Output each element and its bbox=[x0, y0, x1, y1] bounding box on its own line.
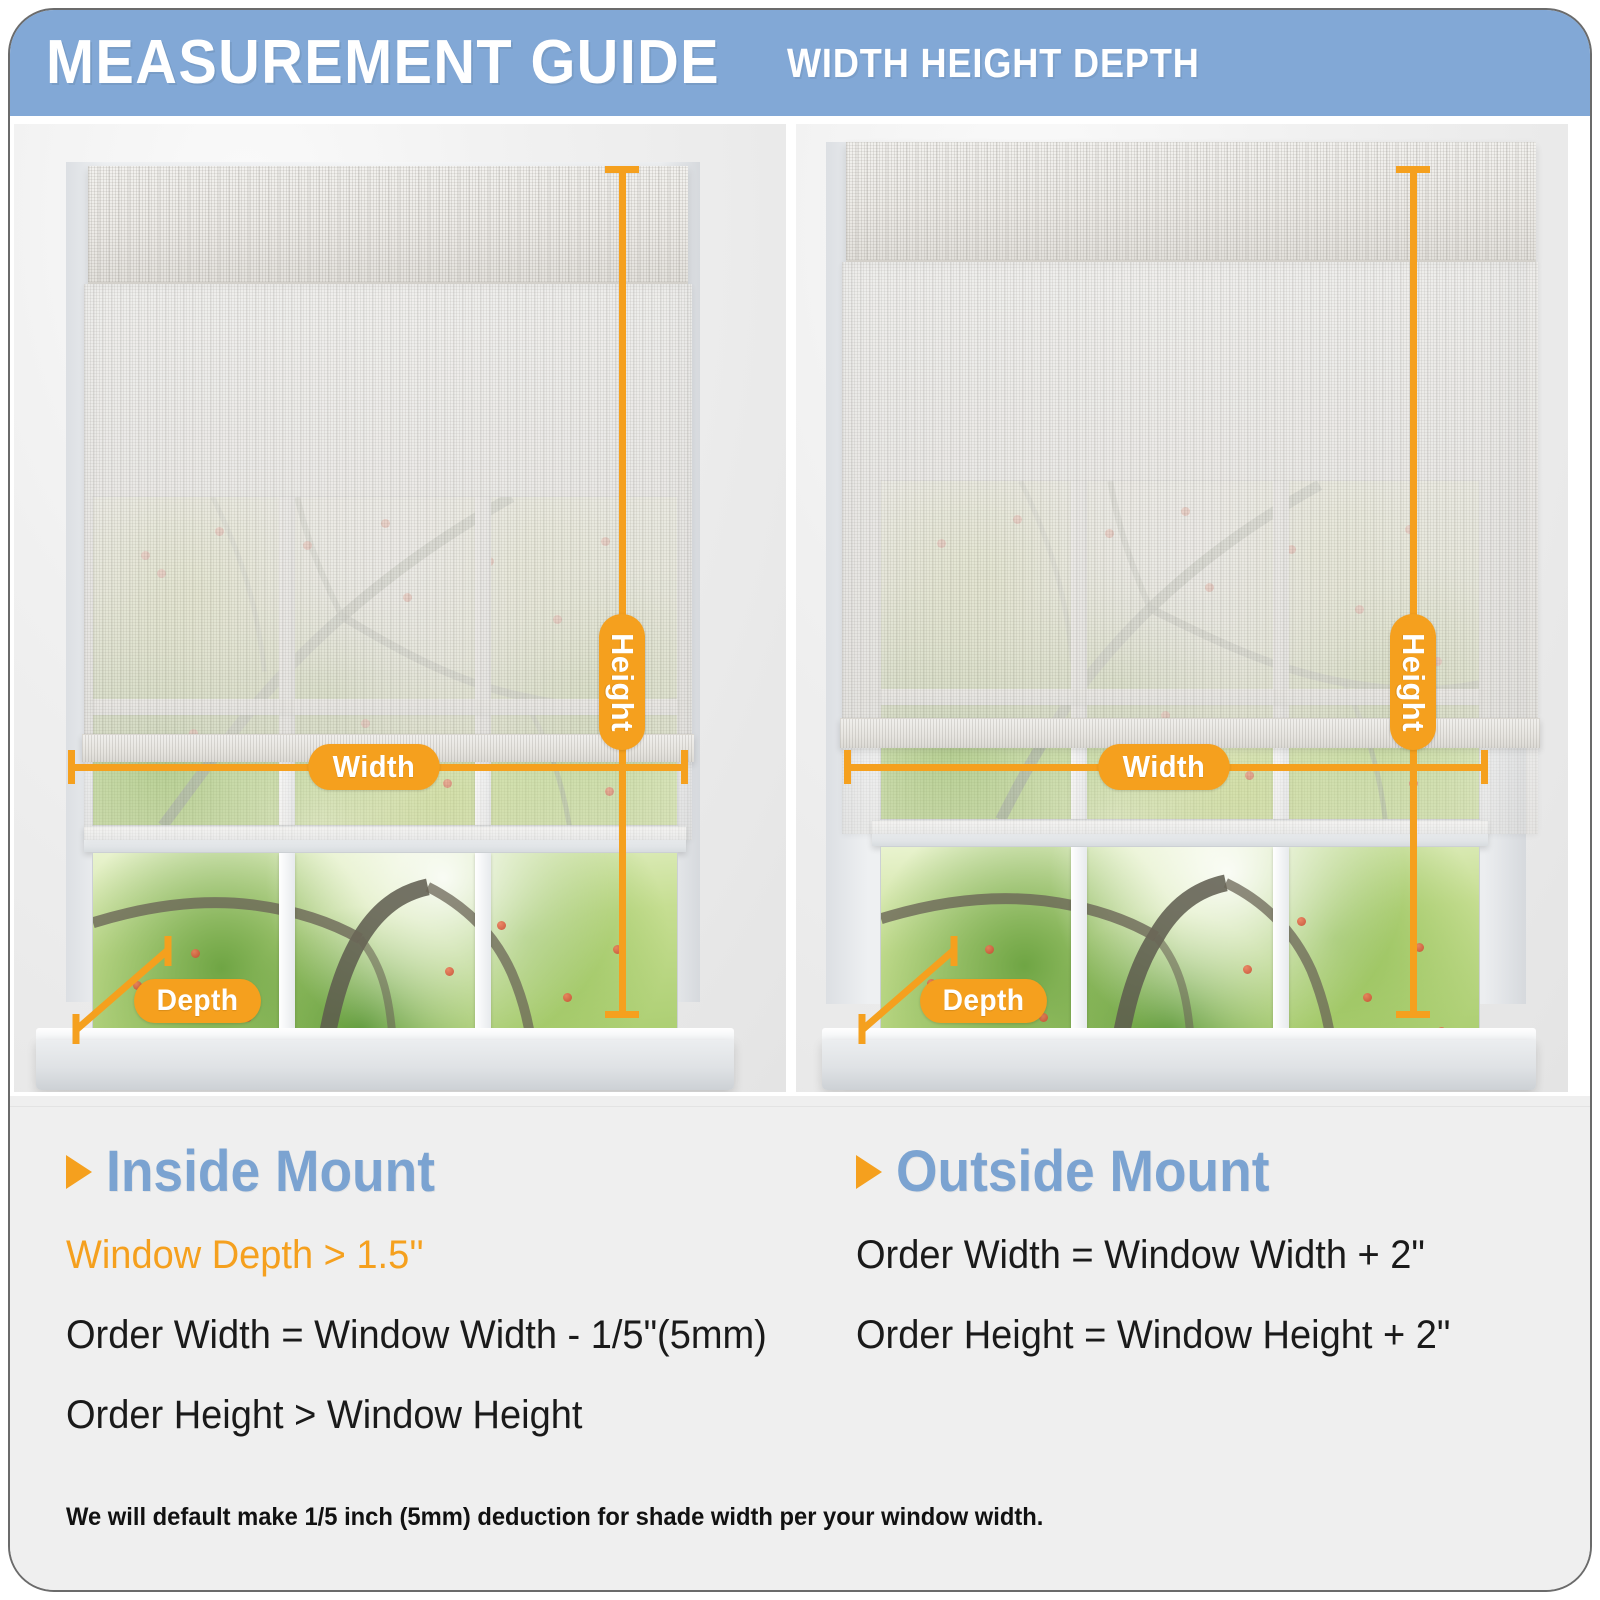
shade-valance bbox=[88, 166, 688, 284]
width-label: Width bbox=[308, 744, 439, 790]
width-cap-right bbox=[681, 750, 688, 784]
inside-mount-rule-depth: Window Depth > 1.5'' bbox=[66, 1235, 788, 1275]
measurement-guide-card: MEASUREMENT GUIDE WIDTH HEIGHT DEPTH bbox=[8, 8, 1592, 1592]
height-cap-bottom bbox=[1396, 1011, 1430, 1018]
inside-mount-window-diagram: Height Width Depth bbox=[14, 124, 786, 1092]
height-label: Height bbox=[599, 614, 645, 750]
mount-instructions-section: Inside Mount Window Depth > 1.5'' Order … bbox=[10, 1106, 1590, 1590]
outside-mount-column: Outside Mount Order Width = Window Width… bbox=[856, 1143, 1556, 1355]
page-subtitle: WIDTH HEIGHT DEPTH bbox=[787, 43, 1200, 84]
height-cap-bottom bbox=[605, 1011, 639, 1018]
width-cap-right bbox=[1481, 750, 1488, 784]
window-sill-face bbox=[36, 1040, 734, 1090]
height-dimension-line bbox=[619, 166, 626, 1018]
shade-valance bbox=[846, 142, 1536, 262]
outside-mount-rule-height: Order Height = Window Height + 2" bbox=[856, 1315, 1521, 1355]
inside-mount-title: Inside Mount bbox=[106, 1143, 435, 1201]
height-label: Height bbox=[1390, 614, 1436, 750]
width-label: Width bbox=[1098, 744, 1229, 790]
window-sill-face bbox=[822, 1040, 1536, 1090]
outside-mount-heading: Outside Mount bbox=[856, 1143, 1556, 1201]
inside-mount-rule-height: Order Height > Window Height bbox=[66, 1395, 788, 1435]
triangle-bullet-icon bbox=[856, 1155, 882, 1189]
outside-mount-title: Outside Mount bbox=[896, 1143, 1269, 1201]
outside-mount-window-diagram: Height Width Depth bbox=[796, 124, 1568, 1092]
footnote-text: We will default make 1/5 inch (5mm) dedu… bbox=[66, 1503, 1043, 1532]
triangle-bullet-icon bbox=[66, 1155, 92, 1189]
inside-mount-heading: Inside Mount bbox=[66, 1143, 826, 1201]
depth-label: Depth bbox=[920, 979, 1047, 1023]
outside-mount-rule-width: Order Width = Window Width + 2" bbox=[856, 1235, 1521, 1275]
header-bar: MEASUREMENT GUIDE WIDTH HEIGHT DEPTH bbox=[10, 10, 1590, 116]
depth-label: Depth bbox=[134, 979, 261, 1023]
inside-mount-rule-width: Order Width = Window Width - 1/5"(5mm) bbox=[66, 1315, 788, 1355]
inside-mount-column: Inside Mount Window Depth > 1.5'' Order … bbox=[66, 1143, 826, 1435]
diagram-panels: Height Width Depth bbox=[10, 116, 1590, 1096]
page-title: MEASUREMENT GUIDE bbox=[46, 32, 720, 94]
height-dimension-line bbox=[1410, 166, 1417, 1018]
